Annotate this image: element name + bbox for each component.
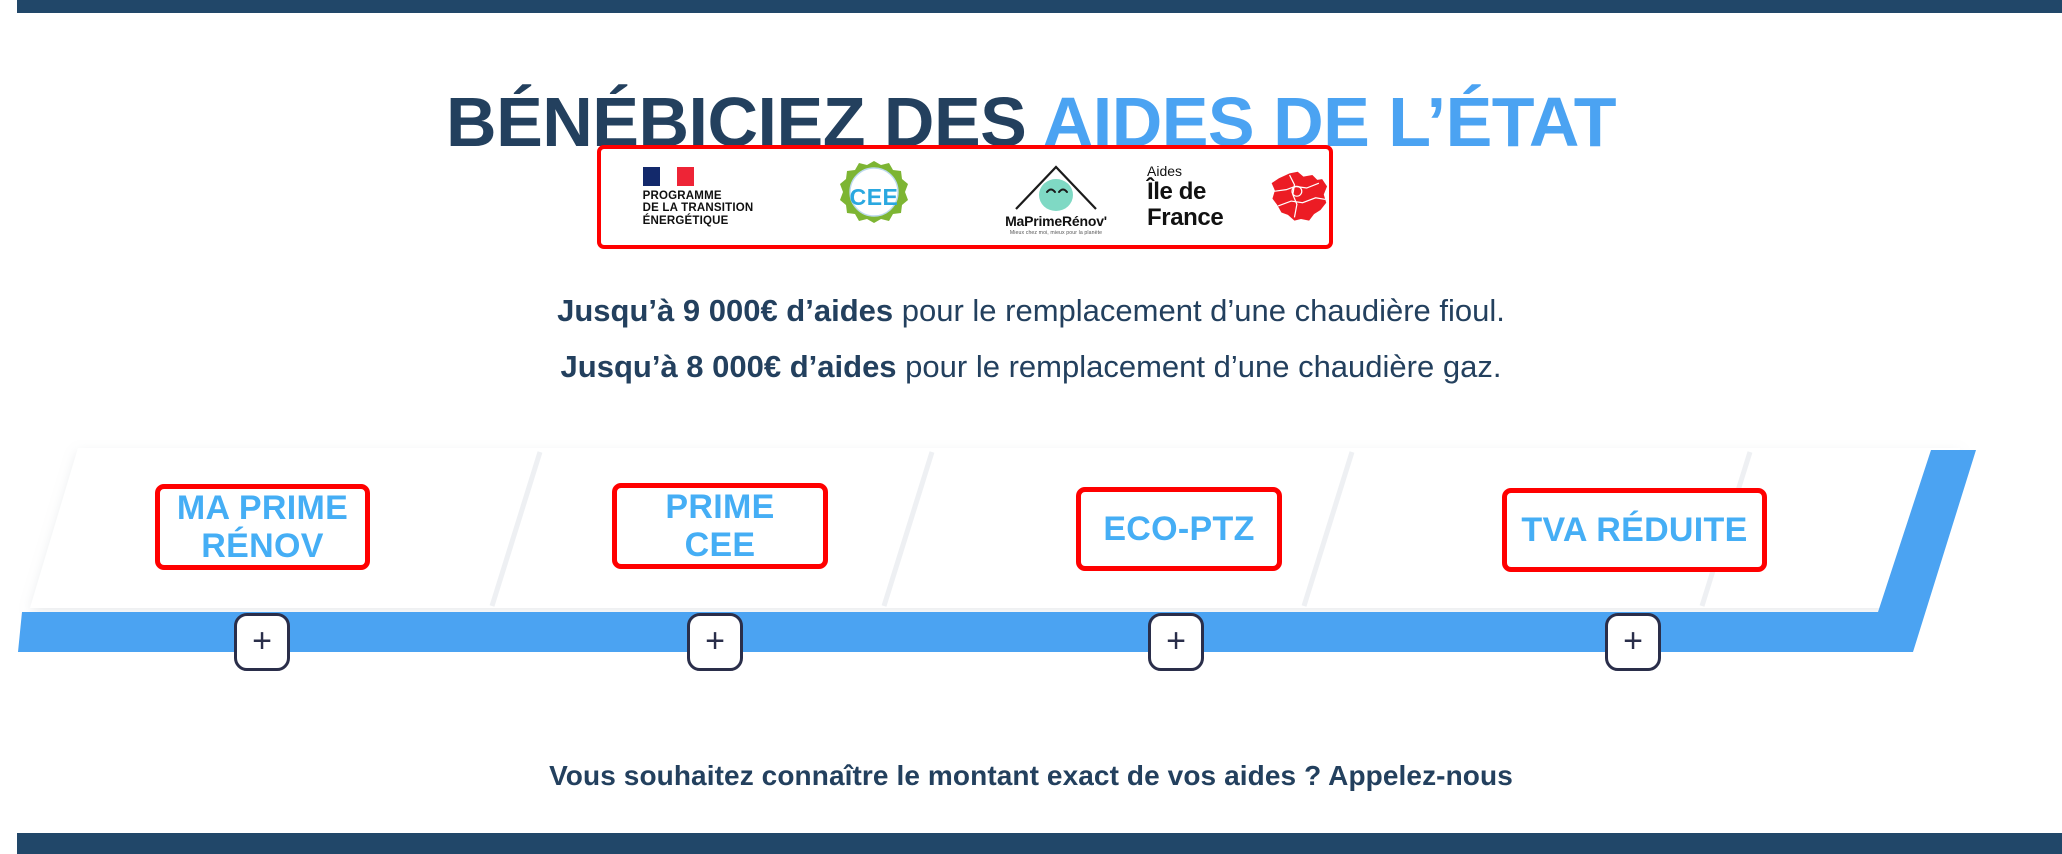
ile-de-france-map-icon [1270,166,1329,228]
aid-chip-label: TVA RÉDUITE [1521,511,1747,549]
aid-amounts: Jusqu’à 9 000€ d’aides pour le remplacem… [0,283,2062,395]
logo-maprimerenov: MaPrimeRénov' Mieux chez moi, mieux pour… [965,149,1147,245]
aids-banner: MA PRIME RÉNOV + PRIME CEE + ECO-PTZ + T… [0,440,2062,660]
cee-label: CEE [839,160,909,234]
aid-chip-expand-ma-prime-renov[interactable]: + [234,613,290,671]
logo-pte-line2: DE LA TRANSITION [643,202,754,215]
aid-chip-expand-tva-reduite[interactable]: + [1605,613,1661,671]
maprimerenov-tagline: Mieux chez moi, mieux pour la planète [1010,230,1102,236]
plus-icon: + [1166,624,1186,658]
aid-amount-desc: pour le remplacement d’une chaudière fio… [893,293,1505,328]
top-accent-bar [17,0,2062,13]
logo-cee: CEE [783,149,965,245]
bottom-accent-bar [17,833,2062,854]
plus-icon: + [705,624,725,658]
aid-amount-value: Jusqu’à 8 000€ d’aides [561,349,897,384]
maprimerenov-name: MaPrimeRénov' [1005,213,1107,229]
plus-icon: + [1623,624,1643,658]
logo-pte-line1: PROGRAMME [643,190,754,203]
call-to-action-text: Vous souhaitez connaître le montant exac… [0,760,2062,792]
logo-aides-ile-de-france: Aides Île de France [1147,149,1329,245]
aid-chip-eco-ptz[interactable]: ECO-PTZ [1076,487,1282,571]
partner-logos-strip: PROGRAMME DE LA TRANSITION ÉNERGÉTIQUE C… [597,145,1333,249]
aid-chip-expand-eco-ptz[interactable]: + [1148,613,1204,671]
aid-amount-desc: pour le remplacement d’une chaudière gaz… [897,349,1502,384]
aid-amount-line: Jusqu’à 8 000€ d’aides pour le remplacem… [0,339,2062,395]
plus-icon: + [252,624,272,658]
aid-chip-label: MA PRIME RÉNOV [177,489,348,565]
aid-chip-prime-cee[interactable]: PRIME CEE [612,483,828,569]
logo-pte-line3: ÉNERGÉTIQUE [643,215,754,228]
aid-chip-tva-reduite[interactable]: TVA RÉDUITE [1502,488,1767,572]
aid-chip-label: PRIME CEE [665,488,774,564]
aid-chip-ma-prime-renov[interactable]: MA PRIME RÉNOV [155,484,370,570]
house-smiley-icon [1006,159,1106,211]
idf-small-label: Aides [1147,163,1182,179]
idf-big-label: Île de France [1147,179,1262,231]
logo-programme-transition-energetique: PROGRAMME DE LA TRANSITION ÉNERGÉTIQUE [601,149,783,245]
aid-amount-value: Jusqu’à 9 000€ d’aides [557,293,893,328]
aid-chips: MA PRIME RÉNOV + PRIME CEE + ECO-PTZ + T… [0,440,2062,660]
aid-chip-expand-prime-cee[interactable]: + [687,613,743,671]
aid-chip-label: ECO-PTZ [1103,510,1254,548]
aid-amount-line: Jusqu’à 9 000€ d’aides pour le remplacem… [0,283,2062,339]
french-flag-icon [643,167,694,186]
